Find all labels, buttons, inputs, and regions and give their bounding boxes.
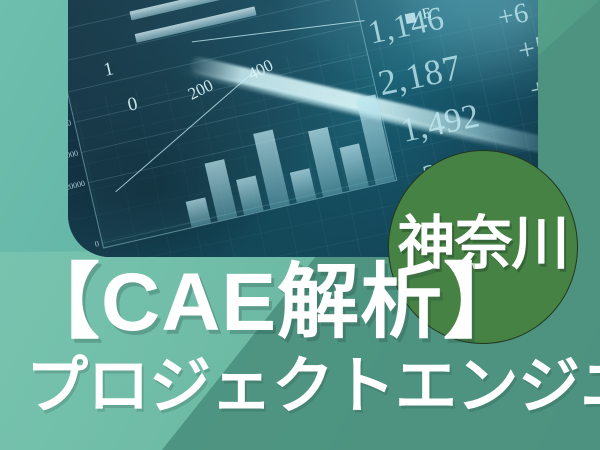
v-bar-7 [340, 144, 369, 191]
v-bar-3 [236, 175, 263, 215]
poster-headline: 【CAE解析】 [18, 262, 598, 344]
job-posting-poster: 140000 120000 100000 80000 60000 40000 2… [0, 0, 600, 450]
v-bar-2 [205, 159, 237, 221]
poster-subline: プロジェクトエンジニア [26, 356, 600, 418]
trend-line-2 [192, 21, 365, 44]
figure-plus-6: +6 [495, 0, 532, 35]
